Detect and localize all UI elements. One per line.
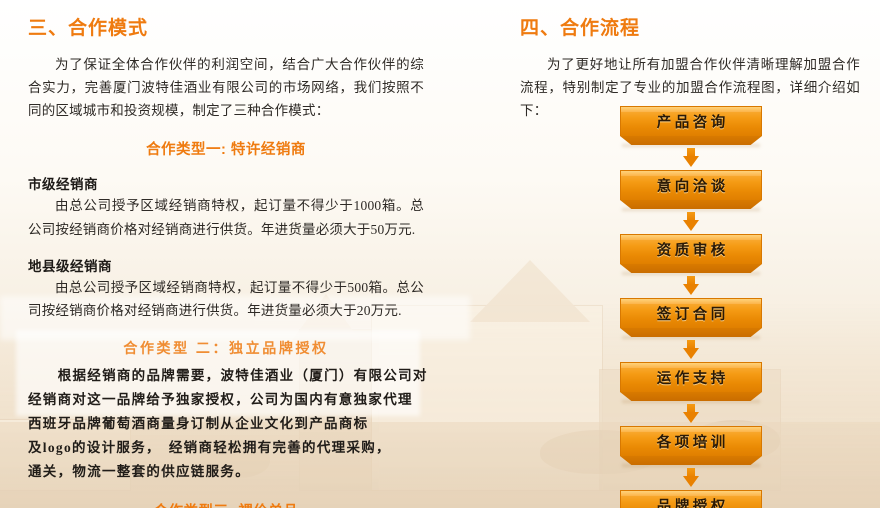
subheading-city-distributor: 市级经销商 — [28, 173, 424, 193]
brand-license-line-3: 西班牙品牌葡萄酒商量身订制从企业文化到产品商标 — [28, 412, 424, 436]
flow-step-intent-negotiation[interactable]: 意向洽谈 — [620, 170, 762, 209]
arrow-head — [683, 284, 699, 295]
arrow-head — [683, 156, 699, 167]
plate-bevel — [620, 200, 762, 209]
cooperation-type-2-heading: 合作类型 二：独立品牌授权 — [28, 338, 424, 358]
flow-step-label: 签订合同 — [653, 303, 729, 324]
flow-step-sign-contract[interactable]: 签订合同 — [620, 298, 762, 337]
brand-license-line-2: 经销商对这一品牌给予独家授权，公司为国内有意独家代理 — [28, 388, 424, 412]
flow-arrow-down-icon-2 — [683, 212, 699, 231]
arrow-head — [683, 412, 699, 423]
flow-arrow-down-icon-3 — [683, 276, 699, 295]
arrow-head — [683, 476, 699, 487]
flow-step-label: 意向洽谈 — [653, 175, 729, 196]
left-column: 三、合作模式 为了保证全体合作伙伴的利润空间，结合广大合作伙伴的综合实力，完善厦… — [28, 18, 424, 508]
flow-step-label: 运作支持 — [653, 367, 729, 388]
flow-step-label: 各项培训 — [653, 431, 729, 452]
brand-license-line-5: 通关，物流一整套的供应链服务。 — [28, 460, 424, 484]
plate-bevel — [620, 136, 762, 145]
brand-license-line-1: 根据经销商的品牌需要，波特佳酒业（厦门）有限公司对 — [28, 364, 424, 388]
flow-step-label: 资质审核 — [653, 239, 729, 260]
plate-face: 品牌授权 — [620, 490, 762, 508]
photo-tower-roof-right — [470, 260, 590, 322]
flow-step-brand-authorization[interactable]: 品牌授权 — [620, 490, 762, 508]
flow-step-product-consultation[interactable]: 产品咨询 — [620, 106, 762, 145]
plate-face: 各项培训 — [620, 426, 762, 456]
section-title-cooperation-modes: 三、合作模式 — [28, 18, 424, 41]
plate-face: 签订合同 — [620, 298, 762, 328]
plate-face: 意向洽谈 — [620, 170, 762, 200]
body-independent-brand-license: 根据经销商的品牌需要，波特佳酒业（厦门）有限公司对 经销商对这一品牌给予独家授权… — [28, 364, 424, 484]
intro-paragraph-left: 为了保证全体合作伙伴的利润空间，结合广大合作伙伴的综合实力，完善厦门波特佳酒业有… — [28, 53, 424, 123]
flow-arrow-down-icon-4 — [683, 340, 699, 359]
plate-face: 产品咨询 — [620, 106, 762, 136]
flow-arrow-down-icon-6 — [683, 468, 699, 487]
flow-step-qualification-review[interactable]: 资质审核 — [620, 234, 762, 273]
poster-page: 三、合作模式 为了保证全体合作伙伴的利润空间，结合广大合作伙伴的综合实力，完善厦… — [0, 0, 880, 508]
subheading-county-distributor: 地县级经销商 — [28, 255, 424, 275]
plate-face: 运作支持 — [620, 362, 762, 392]
brand-license-line-4: 及logo的设计服务， 经销商轻松拥有完善的代理采购， — [28, 436, 424, 460]
flow-arrow-down-icon-5 — [683, 404, 699, 423]
flow-arrow-down-icon-1 — [683, 148, 699, 167]
cooperation-process-flowchart: 产品咨询 意向洽谈 资质审核 — [613, 106, 769, 508]
arrow-head — [683, 348, 699, 359]
plate-bevel — [620, 456, 762, 465]
cooperation-type-3-heading: 合作类型三: 裸价单品 — [28, 500, 424, 508]
body-city-distributor: 由总公司授予区域经销商特权，起订量不得少于1000箱。总公司按经销商价格对经销商… — [28, 194, 424, 240]
section-title-cooperation-process: 四、合作流程 — [520, 18, 860, 41]
plate-bevel — [620, 264, 762, 273]
body-county-distributor: 由总公司授予区域经销商特权，起订量不得少于500箱。总公司按经销商价格对经销商进… — [28, 276, 424, 322]
flow-step-label: 品牌授权 — [653, 495, 729, 508]
flow-step-label: 产品咨询 — [653, 111, 729, 132]
plate-bevel — [620, 328, 762, 337]
arrow-head — [683, 220, 699, 231]
flow-step-operation-support[interactable]: 运作支持 — [620, 362, 762, 401]
flow-step-training[interactable]: 各项培训 — [620, 426, 762, 465]
cooperation-type-1-heading: 合作类型一: 特许经销商 — [28, 138, 424, 159]
plate-face: 资质审核 — [620, 234, 762, 264]
plate-bevel — [620, 392, 762, 401]
